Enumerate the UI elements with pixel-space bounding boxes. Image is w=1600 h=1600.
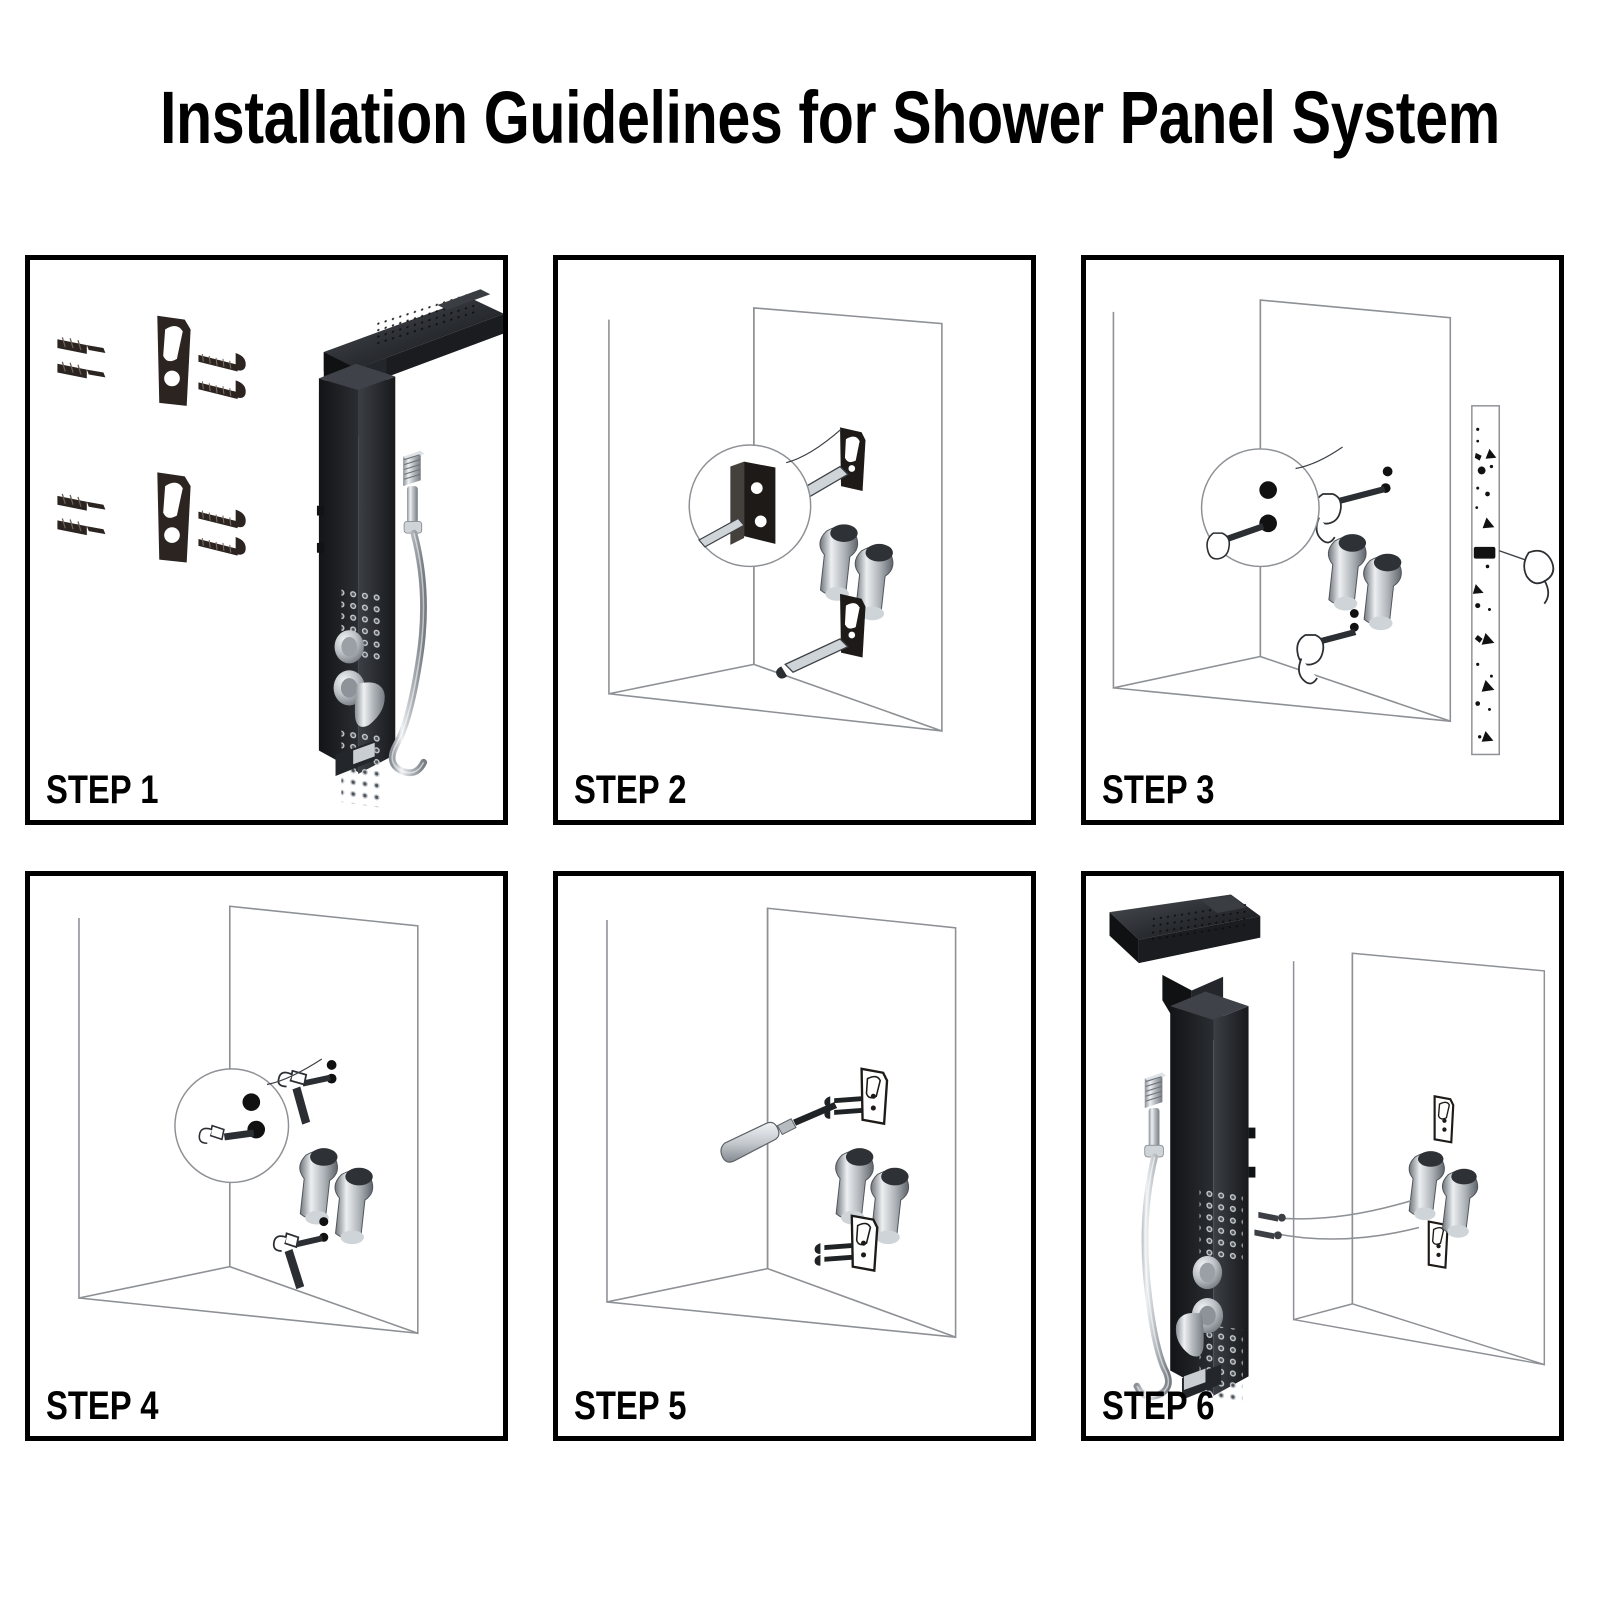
step-1-illustration (30, 260, 503, 820)
power-drill-lower (1297, 609, 1359, 683)
hose-connectors (1254, 1212, 1285, 1239)
step-4-illustration (30, 876, 503, 1436)
step-panel-1: STEP 1 (25, 255, 508, 825)
hose-clip (317, 506, 324, 516)
magnifier-leader-line (786, 429, 841, 462)
water-inlet-elbows (300, 1148, 373, 1244)
magnifier-detail-circle (1202, 449, 1320, 567)
inlet-elbow (836, 1148, 874, 1224)
upper-bracket-with-screws (824, 1069, 887, 1124)
hand-shower (1145, 1073, 1167, 1157)
rainfall-shower-head (1110, 895, 1261, 964)
mounted-bracket-upper (1435, 1096, 1454, 1142)
lower-bracket-with-screws (815, 1216, 878, 1271)
shower-hose (392, 533, 424, 773)
wall-corner (607, 908, 956, 1337)
step-label-3: STEP 3 (1102, 768, 1214, 812)
inlet-elbow (300, 1148, 338, 1224)
inlet-elbow (1442, 1169, 1477, 1238)
step-label-5: STEP 5 (574, 1384, 686, 1428)
step-label-4: STEP 4 (46, 1384, 158, 1428)
steps-grid: STEP 1 (25, 255, 1565, 1511)
inlet-elbow (1328, 534, 1366, 610)
water-inlet-elbows (1409, 1151, 1478, 1238)
shower-panel-assembly (317, 289, 503, 808)
wall-anchor (57, 337, 105, 354)
wall-anchor (57, 362, 105, 379)
power-drill-right (1524, 551, 1553, 604)
screwdriver (721, 1102, 837, 1162)
step-2-illustration (558, 260, 1031, 820)
inlet-elbow (1409, 1151, 1444, 1220)
hammer-lower (274, 1217, 329, 1289)
mounting-screw (198, 510, 245, 529)
diverter-knob (1193, 1256, 1222, 1289)
step-panel-3: STEP 3 (1081, 255, 1564, 825)
mounting-bracket (157, 472, 190, 562)
water-inlet-elbows (1328, 534, 1401, 630)
shower-hose (1137, 1157, 1169, 1397)
wall-anchor (57, 518, 105, 535)
hose-clip (1249, 1128, 1256, 1139)
step-panel-5: STEP 5 (553, 871, 1036, 1441)
connection-hoses (1274, 1200, 1419, 1239)
step-panel-2: STEP 2 (553, 255, 1036, 825)
installation-guide-page: Installation Guidelines for Shower Panel… (0, 0, 1600, 1600)
step-label-1: STEP 1 (46, 768, 158, 812)
body-jets-upper (1200, 1187, 1243, 1264)
inlet-elbow (820, 524, 858, 600)
page-title: Installation Guidelines for Shower Panel… (160, 78, 1440, 158)
hardware-kit-upper (57, 316, 245, 406)
step-label-6: STEP 6 (1102, 1384, 1214, 1428)
wall-anchor (296, 1235, 322, 1247)
step-5-illustration (558, 876, 1031, 1436)
step-panel-6: STEP 6 (1081, 871, 1564, 1441)
mounting-screw (198, 537, 245, 556)
mounting-screw (198, 353, 245, 372)
hose-clip (317, 543, 324, 553)
bracket-screw (785, 639, 848, 672)
mounting-bracket (157, 316, 190, 406)
magnifier-detail-circle (689, 445, 810, 566)
mounting-screw (198, 380, 245, 399)
hose-clip (1249, 1167, 1256, 1178)
magnifier-detail-circle (175, 1069, 289, 1183)
hand-shower (403, 451, 425, 533)
lower-bracket-assembly (776, 594, 865, 679)
hardware-kit-lower (57, 472, 245, 562)
power-drill-upper (1315, 467, 1393, 543)
panel-column-side (319, 378, 358, 772)
step-3-illustration (1086, 260, 1559, 820)
diverter-knob (335, 630, 364, 663)
inlet-elbow (1364, 554, 1402, 630)
step-panel-4: STEP 4 (25, 871, 508, 1441)
inlet-elbow (335, 1168, 373, 1244)
step-label-2: STEP 2 (574, 768, 686, 812)
drill-template-strip (1472, 406, 1539, 755)
magnifier-leader-line (1296, 447, 1343, 469)
step-6-illustration (1086, 876, 1559, 1436)
shower-panel-assembly (1110, 895, 1261, 1405)
wall-anchor (57, 494, 105, 511)
